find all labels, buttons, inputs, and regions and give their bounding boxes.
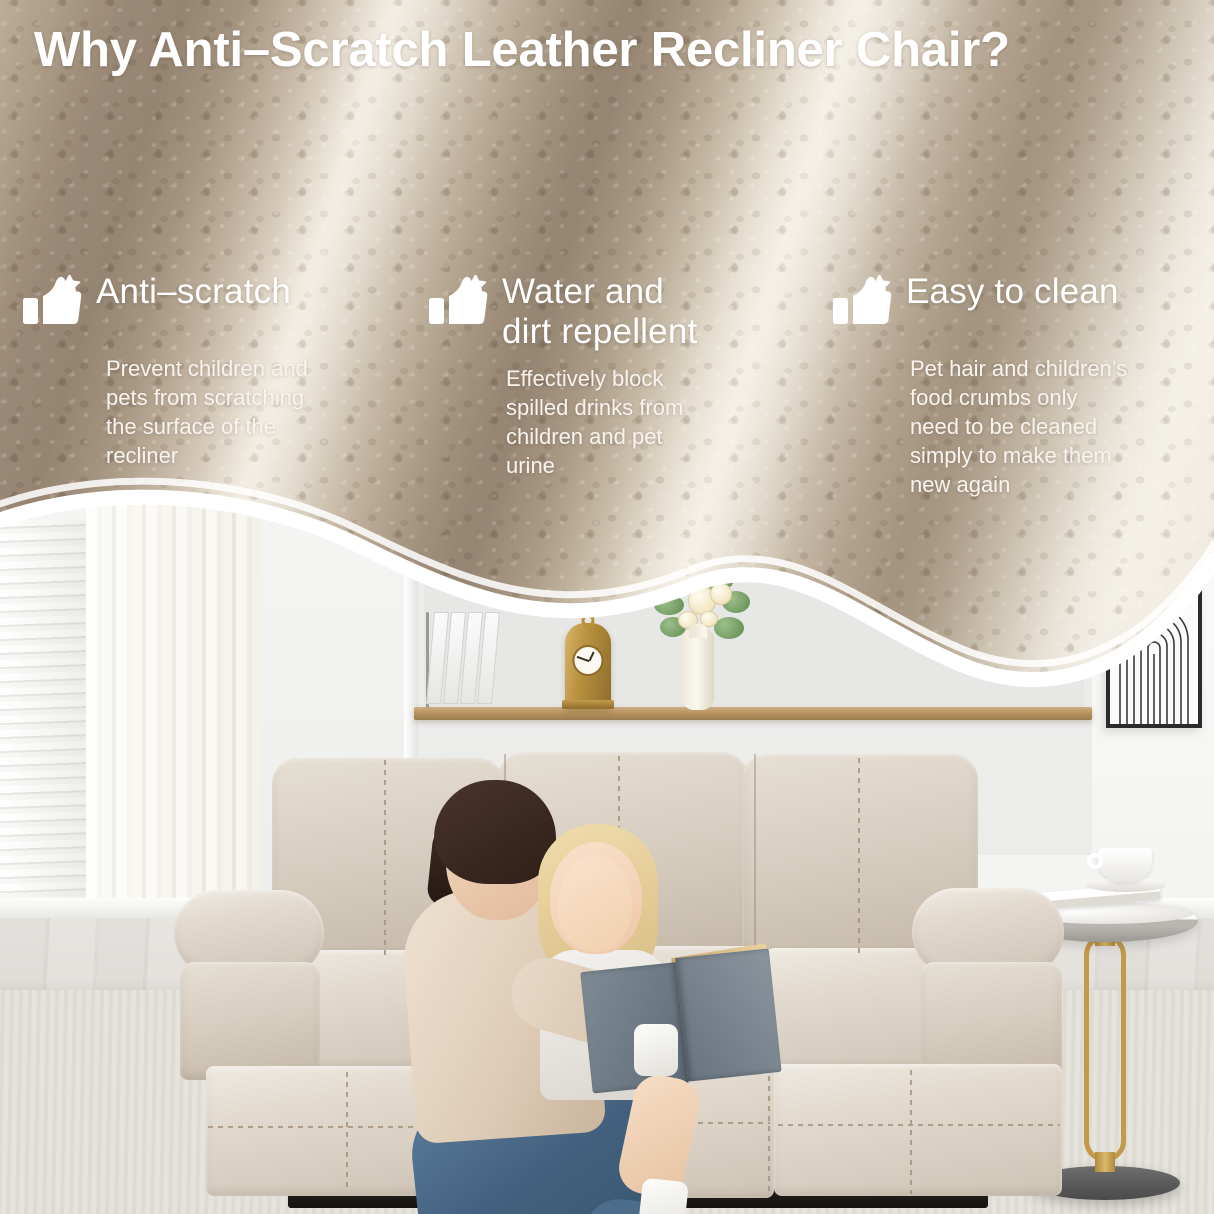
thumbs-up-star-icon — [22, 275, 84, 332]
feature-body: Effectively block spilled drinks from ch… — [506, 364, 788, 480]
flower-vase — [682, 630, 714, 710]
thumbs-up-star-icon — [832, 275, 894, 332]
product-feature-banner: Why Anti–Scratch Leather Recliner Chair?… — [0, 0, 1214, 1214]
sofa-arm-panel-left — [180, 962, 320, 1080]
feature-heading: Easy to clean — [906, 272, 1119, 312]
book-page-right — [675, 948, 781, 1081]
clock-face — [573, 645, 604, 676]
feature-column-water-repellent: Water and dirt repellent Effectively blo… — [428, 272, 788, 480]
table-stem — [1084, 934, 1126, 1162]
feature-heading: Water and dirt repellent — [502, 272, 697, 352]
sofa-stitch — [346, 1072, 348, 1192]
clock-base — [562, 700, 614, 709]
woman-hair — [434, 780, 556, 884]
sofa-stitch — [858, 758, 860, 956]
feature-heading-row: Easy to clean — [832, 272, 1204, 332]
feature-columns: Anti–scratch Prevent children and pets f… — [0, 272, 1214, 542]
thumbs-up-star-icon — [428, 275, 490, 332]
page-title: Why Anti–Scratch Leather Recliner Chair? — [34, 22, 1194, 78]
feature-heading-row: Anti–scratch — [22, 272, 402, 332]
feature-column-anti-scratch: Anti–scratch Prevent children and pets f… — [22, 272, 402, 470]
feature-heading-row: Water and dirt repellent — [428, 272, 788, 352]
sofa-stitch — [910, 1070, 912, 1194]
feature-column-easy-to-clean: Easy to clean Pet hair and children’s fo… — [832, 272, 1204, 499]
teacup — [1098, 848, 1152, 882]
girl-sock — [637, 1178, 689, 1214]
sofa-stitch — [384, 760, 386, 956]
sofa-stitch — [778, 1124, 1060, 1126]
girl-sock — [634, 1024, 678, 1076]
girl-face — [558, 856, 632, 952]
feature-heading: Anti–scratch — [96, 272, 291, 312]
woman-and-girl-reading — [390, 770, 810, 1214]
wall-shelf-middle — [414, 707, 1092, 720]
book-rack — [430, 612, 508, 708]
open-book — [580, 948, 783, 1097]
mantel-clock — [565, 623, 611, 709]
cup-handle — [1087, 853, 1103, 869]
clock-ring — [582, 614, 595, 627]
feature-body: Prevent children and pets from scratchin… — [106, 354, 402, 470]
clock-minute-hand — [576, 655, 589, 661]
feature-body: Pet hair and children’s food crumbs only… — [910, 354, 1204, 499]
sofa-front-right — [774, 1064, 1062, 1196]
table-foot — [1095, 1152, 1115, 1172]
